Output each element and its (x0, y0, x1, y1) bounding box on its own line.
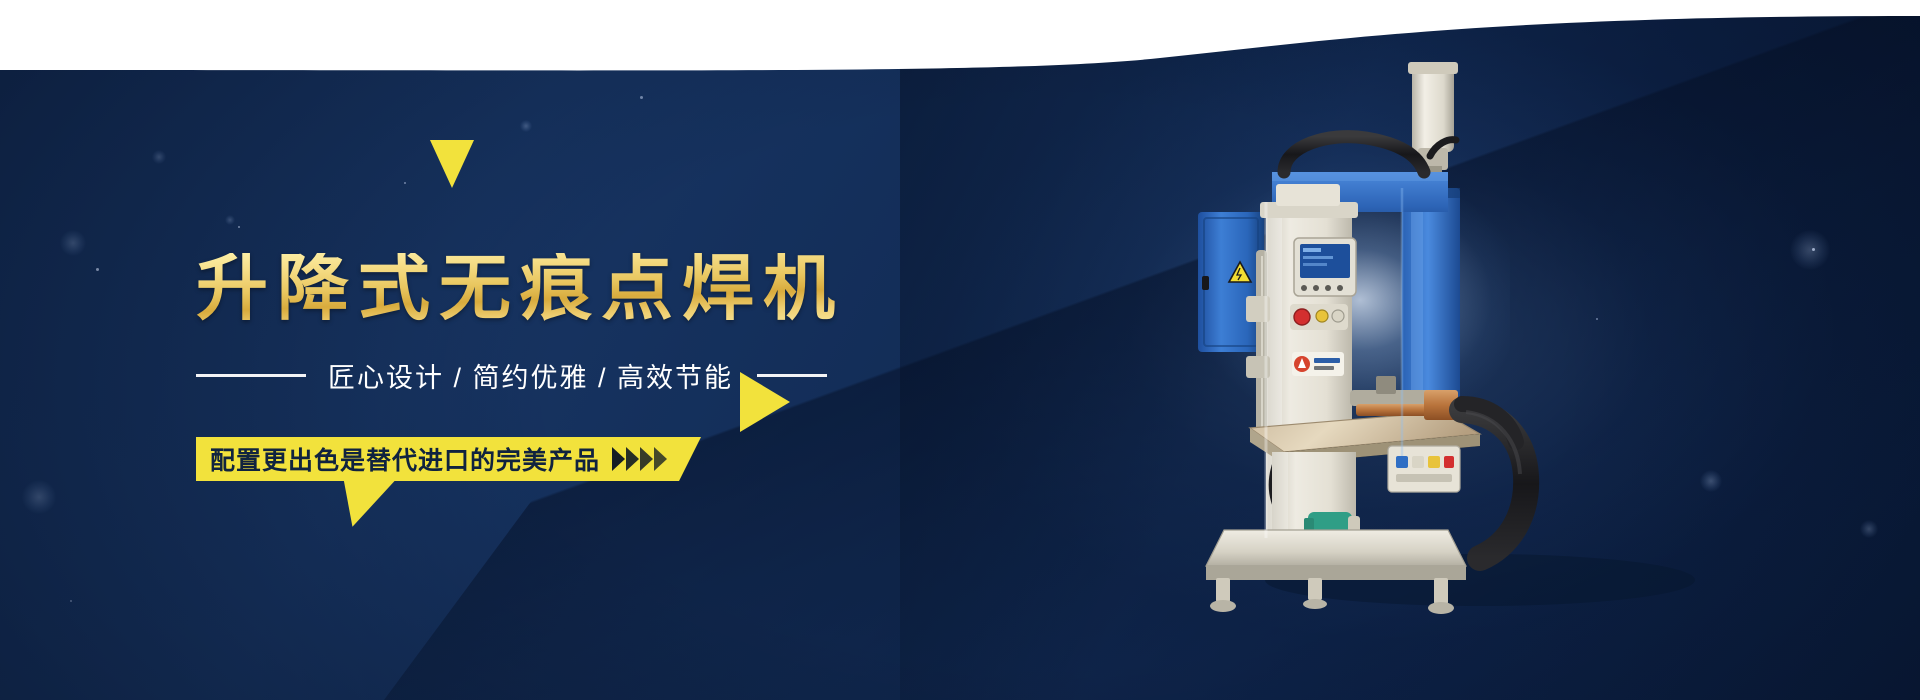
subtitle-text: 匠心设计 / 简约优雅 / 高效节能 (328, 356, 733, 395)
chevron-right-icon (612, 447, 625, 471)
callout-badge[interactable]: 配置更出色是替代进口的完美产品 (196, 437, 701, 481)
subtitle-rule-right (757, 374, 827, 377)
chevron-right-icon (654, 447, 667, 471)
subtitle-rule-left (196, 374, 306, 377)
chevron-right-icon (626, 447, 639, 471)
banner-text-block: 升降式无痕点焊机 匠心设计 / 简约优雅 / 高效节能 配置更出色是替代进口的完… (0, 0, 900, 700)
callout-text: 配置更出色是替代进口的完美产品 (210, 441, 600, 477)
chevron-right-icon (640, 447, 653, 471)
page-title: 升降式无痕点焊机 (196, 253, 844, 325)
promo-banner: 升降式无痕点焊机 匠心设计 / 简约优雅 / 高效节能 配置更出色是替代进口的完… (0, 0, 1920, 700)
chevron-right-group-icon (612, 447, 667, 471)
welding-machine-image (1180, 60, 1820, 660)
subtitle-row: 匠心设计 / 简约优雅 / 高效节能 (196, 356, 827, 395)
